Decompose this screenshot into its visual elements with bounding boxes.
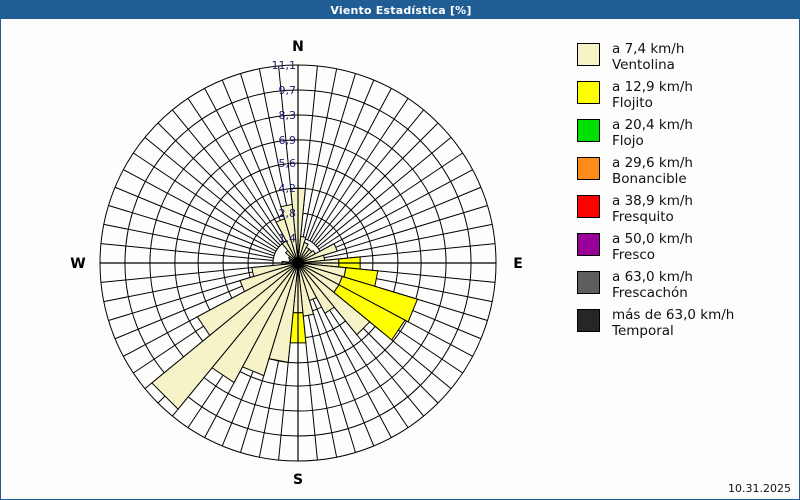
legend-item[interactable]: a 20,4 km/hFlojo (577, 118, 792, 149)
legend-item[interactable]: a 50,0 km/hFresco (577, 232, 792, 263)
legend-color-swatch (577, 43, 600, 66)
legend-item[interactable]: a 63,0 km/hFrescachón (577, 270, 792, 301)
legend-speed-label: más de 63,0 km/h (612, 308, 734, 324)
legend-label: a 7,4 km/hVentolina (612, 42, 684, 73)
legend-item[interactable]: a 38,9 km/hFresquito (577, 194, 792, 225)
legend: a 7,4 km/hVentolinaa 12,9 km/hFlojitoa 2… (577, 42, 792, 346)
legend-label: a 29,6 km/hBonancible (612, 156, 693, 187)
grid-spoke (101, 244, 273, 261)
grid-spoke (158, 123, 280, 245)
wind-rose-petals (152, 188, 418, 409)
legend-item[interactable]: a 12,9 km/hFlojito (577, 80, 792, 111)
radial-tick-label: 5,6 (279, 157, 297, 170)
legend-speed-label: a 20,4 km/h (612, 118, 693, 134)
legend-color-swatch (577, 271, 600, 294)
compass-label-east: E (513, 256, 523, 272)
legend-color-swatch (577, 119, 600, 142)
grid-spoke (115, 187, 275, 253)
grid-spoke (321, 187, 481, 253)
legend-speed-label: a 38,9 km/h (612, 194, 693, 210)
legend-label: a 63,0 km/hFrescachón (612, 270, 693, 301)
radial-tick-label: 2,8 (279, 207, 297, 220)
radial-tick-label: 4,2 (279, 182, 297, 195)
radial-tick-labels: 1,42,84,25,66,98,39,711,1 (272, 59, 297, 245)
legend-label: a 12,9 km/hFlojito (612, 80, 693, 111)
window-title: Viento Estadística [%] (330, 4, 471, 17)
radial-tick-label: 6,9 (279, 134, 297, 147)
legend-speed-label: a 7,4 km/h (612, 42, 684, 58)
legend-category-label: Ventolina (612, 58, 684, 74)
wind-statistics-window: Viento Estadística [%] 1,42,84,25,66,98,… (0, 0, 800, 500)
compass-label-west: W (70, 256, 85, 272)
legend-label: a 50,0 km/hFresco (612, 232, 693, 263)
legend-label: a 38,9 km/hFresquito (612, 194, 693, 225)
radial-tick-label: 11,1 (272, 59, 297, 72)
date-stamp: 10.31.2025 (728, 482, 791, 495)
legend-category-label: Frescachón (612, 286, 693, 302)
grid-spoke (308, 80, 374, 240)
legend-speed-label: a 29,6 km/h (612, 156, 693, 172)
legend-color-swatch (577, 81, 600, 104)
legend-category-label: Temporal (612, 324, 734, 340)
legend-item[interactable]: a 29,6 km/hBonancible (577, 156, 792, 187)
radial-tick-label: 8,3 (279, 109, 297, 122)
window-titlebar: Viento Estadística [%] (1, 1, 800, 19)
legend-category-label: Flojo (612, 134, 693, 150)
legend-color-swatch (577, 157, 600, 180)
legend-color-swatch (577, 309, 600, 332)
legend-category-label: Fresco (612, 248, 693, 264)
legend-color-swatch (577, 233, 600, 256)
legend-category-label: Fresquito (612, 210, 693, 226)
legend-label: más de 63,0 km/hTemporal (612, 308, 734, 339)
legend-speed-label: a 50,0 km/h (612, 232, 693, 248)
legend-speed-label: a 12,9 km/h (612, 80, 693, 96)
window-content: 1,42,84,25,66,98,39,711,1 NESW a 7,4 km/… (2, 20, 799, 499)
wind-rose-svg: 1,42,84,25,66,98,39,711,1 NESW (2, 20, 572, 499)
legend-category-label: Flojito (612, 96, 693, 112)
legend-category-label: Bonancible (612, 172, 693, 188)
compass-label-north: N (292, 39, 304, 55)
legend-item[interactable]: a 7,4 km/hVentolina (577, 42, 792, 73)
legend-speed-label: a 63,0 km/h (612, 270, 693, 286)
legend-label: a 20,4 km/hFlojo (612, 118, 693, 149)
wind-rose-chart: 1,42,84,25,66,98,39,711,1 NESW (2, 20, 572, 499)
legend-item[interactable]: más de 63,0 km/hTemporal (577, 308, 792, 339)
grid-spoke (316, 123, 438, 245)
radial-tick-label: 9,7 (279, 84, 297, 97)
compass-label-south: S (293, 472, 303, 488)
legend-color-swatch (577, 195, 600, 218)
radial-tick-label: 1,4 (279, 232, 297, 245)
